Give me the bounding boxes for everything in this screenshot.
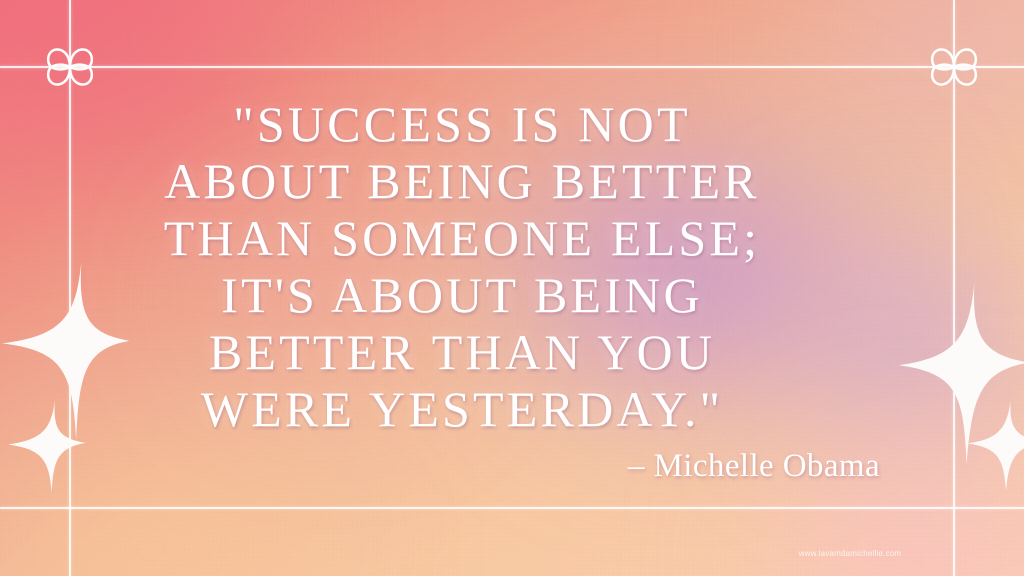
flower-icon xyxy=(915,28,993,106)
quote-line: "SUCCESS IS NOT xyxy=(92,96,832,153)
quote-attribution: – Michelle Obama xyxy=(92,448,880,485)
quote-line: BETTER THAN YOU xyxy=(92,324,832,381)
frame-line-horizontal-top xyxy=(0,66,1024,68)
watermark-url: www.lavamdamichellie.com xyxy=(760,549,940,558)
flower-icon xyxy=(31,28,109,106)
sparkle-star-icon xyxy=(968,398,1024,492)
quote-card: "SUCCESS IS NOT ABOUT BEING BETTER THAN … xyxy=(0,0,1024,576)
quote-line: THAN SOMEONE ELSE; xyxy=(92,210,832,267)
sparkle-star-icon xyxy=(8,398,86,494)
quote-text: "SUCCESS IS NOT ABOUT BEING BETTER THAN … xyxy=(92,96,832,438)
frame-line-horizontal-bottom xyxy=(0,507,1024,509)
quote-line: IT'S ABOUT BEING xyxy=(92,267,832,324)
quote-line: ABOUT BEING BETTER xyxy=(92,153,832,210)
quote-line: WERE YESTERDAY." xyxy=(92,381,832,438)
